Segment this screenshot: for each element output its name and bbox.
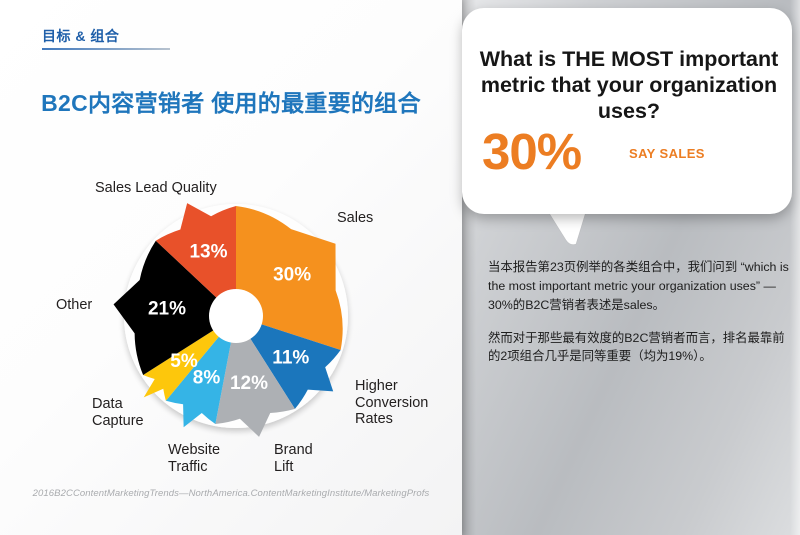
- pie-value-brand-lift: 12%: [230, 373, 268, 394]
- body-paragraph-2: 然而对于那些最有效度的B2C营销者而言，排名最靠前的2项组合几乎是同等重要（均为…: [488, 329, 790, 367]
- pie-value-sales: 30%: [273, 264, 311, 285]
- slide-canvas: 目标 & 组合 B2C内容营销者 使用的最重要的组合 30%11%12%8%5%…: [0, 0, 800, 535]
- callout-stat-value: 30%: [482, 126, 581, 177]
- callout-stat-caption: SAY SALES: [629, 146, 705, 161]
- pie-label-sales: Sales: [337, 210, 373, 227]
- donut-hole: [209, 289, 263, 343]
- pie-label-website-traffic: Website Traffic: [168, 442, 220, 475]
- body-paragraph-1: 当本报告第23页例举的各类组合中，我们问到 “which is the most…: [488, 258, 790, 315]
- section-tab[interactable]: 目标 & 组合: [42, 26, 119, 46]
- header-divider: [42, 48, 170, 50]
- pie-value-higher-conversion-rates: 11%: [272, 348, 309, 369]
- pie-value-other: 21%: [148, 299, 186, 320]
- pie-value-data-capture: 5%: [170, 351, 198, 372]
- section-tab-label: 目标 & 组合: [42, 26, 119, 46]
- callout-question: What is THE MOST important metric that y…: [470, 46, 788, 124]
- pie-label-brand-lift: Brand Lift: [274, 442, 313, 475]
- pie-label-higher-conversion-rates: Higher Conversion Rates: [355, 378, 428, 428]
- pie-value-sales-lead-quality: 13%: [189, 241, 227, 262]
- body-copy: 当本报告第23页例举的各类组合中，我们问到 “which is the most…: [488, 258, 790, 380]
- pie-label-other: Other: [56, 297, 92, 314]
- pie-label-sales-lead-quality: Sales Lead Quality: [95, 180, 217, 197]
- pie-label-data-capture: Data Capture: [92, 396, 144, 429]
- chart-title: B2C内容营销者 使用的最重要的组合: [0, 88, 462, 118]
- source-citation: 2016B2CContentMarketingTrends—NorthAmeri…: [0, 488, 462, 499]
- pie-chart: 30%11%12%8%5%21%13% Sales Lead Quality S…: [0, 170, 462, 460]
